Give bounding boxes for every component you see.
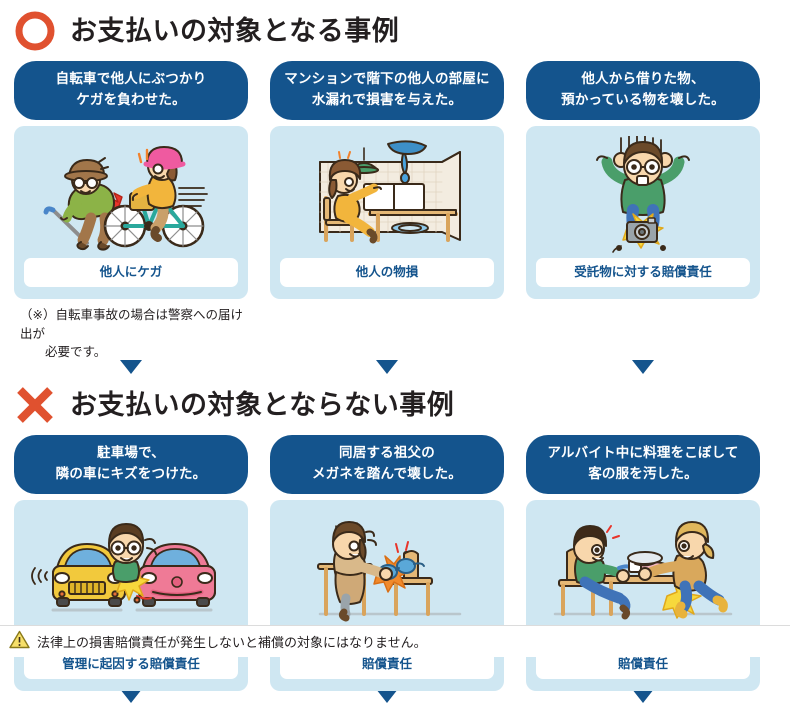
case-bubble: 他人から借りた物、 預かっている物を壊した。 <box>526 61 760 120</box>
case-row-covered: 自転車で他人にぶつかり ケガを負わせた。 <box>0 61 790 362</box>
bubble-tail <box>632 360 654 374</box>
case-bubble: アルバイト中に料理をこぼして 客の服を汚した。 <box>526 435 760 494</box>
case-bubble: 駐車場で、 隣の車にキズをつけた。 <box>14 435 248 494</box>
case-bubble: 同居する祖父の メガネを踏んで壊した。 <box>270 435 504 494</box>
section-title: お支払いの対象となる事例 <box>70 18 399 45</box>
section-title: お支払いの対象とならない事例 <box>70 392 454 419</box>
bubble-tail <box>120 689 142 703</box>
water-leak-room-illustration <box>280 136 494 254</box>
section-header-not-covered: お支払いの対象とならない事例 <box>0 382 790 428</box>
circle-mark-icon <box>12 8 58 54</box>
warning-text: 法律上の損害賠償責任が発生しないと補償の対象にはなりません。 <box>37 632 427 651</box>
bicycle-collision-illustration <box>24 136 238 254</box>
broken-camera-illustration <box>536 136 750 254</box>
infographic-page: お支払いの対象となる事例 自転車で他人にぶつかり ケガを負わせた。 <box>0 0 790 657</box>
case-panel: 同居している親族に対する 賠償責任 <box>270 500 504 691</box>
case-caption: 他人にケガ <box>24 258 238 287</box>
case-caption: 他人の物損 <box>280 258 494 287</box>
case-card: 自転車で他人にぶつかり ケガを負わせた。 <box>14 61 248 362</box>
case-bubble: 自転車で他人にぶつかり ケガを負わせた。 <box>14 61 248 120</box>
case-panel: 受託物に対する賠償責任 <box>526 126 760 299</box>
warning-bar: 法律上の損害賠償責任が発生しないと補償の対象にはなりません。 <box>0 625 790 657</box>
bubble-tail <box>376 689 398 703</box>
broken-glasses-illustration <box>280 510 494 628</box>
bubble-tail <box>632 689 654 703</box>
case-caption: 受託物に対する賠償責任 <box>536 258 750 287</box>
case-panel: 職務、業務に起因する 賠償責任 <box>526 500 760 691</box>
section-footnote: （※）自転車事故の場合は警察への届け出が 必要です。 <box>14 299 248 362</box>
case-card: 他人から借りた物、 預かっている物を壊した。 <box>526 61 760 362</box>
warning-triangle-icon <box>9 630 30 653</box>
car-scratch-illustration <box>24 510 238 628</box>
case-panel: 他人にケガ <box>14 126 248 299</box>
bubble-tail <box>120 360 142 374</box>
case-panel: 車両の所有・使用・ 管理に起因する賠償責任 <box>14 500 248 691</box>
case-panel: 他人の物損 <box>270 126 504 299</box>
cross-mark-icon <box>12 382 58 428</box>
section-header-covered: お支払いの対象となる事例 <box>0 0 790 54</box>
case-card: マンションで階下の他人の部屋に 水漏れで損害を与えた。 <box>270 61 504 362</box>
spilled-food-illustration <box>536 510 750 628</box>
bubble-tail <box>376 360 398 374</box>
case-bubble: マンションで階下の他人の部屋に 水漏れで損害を与えた。 <box>270 61 504 120</box>
